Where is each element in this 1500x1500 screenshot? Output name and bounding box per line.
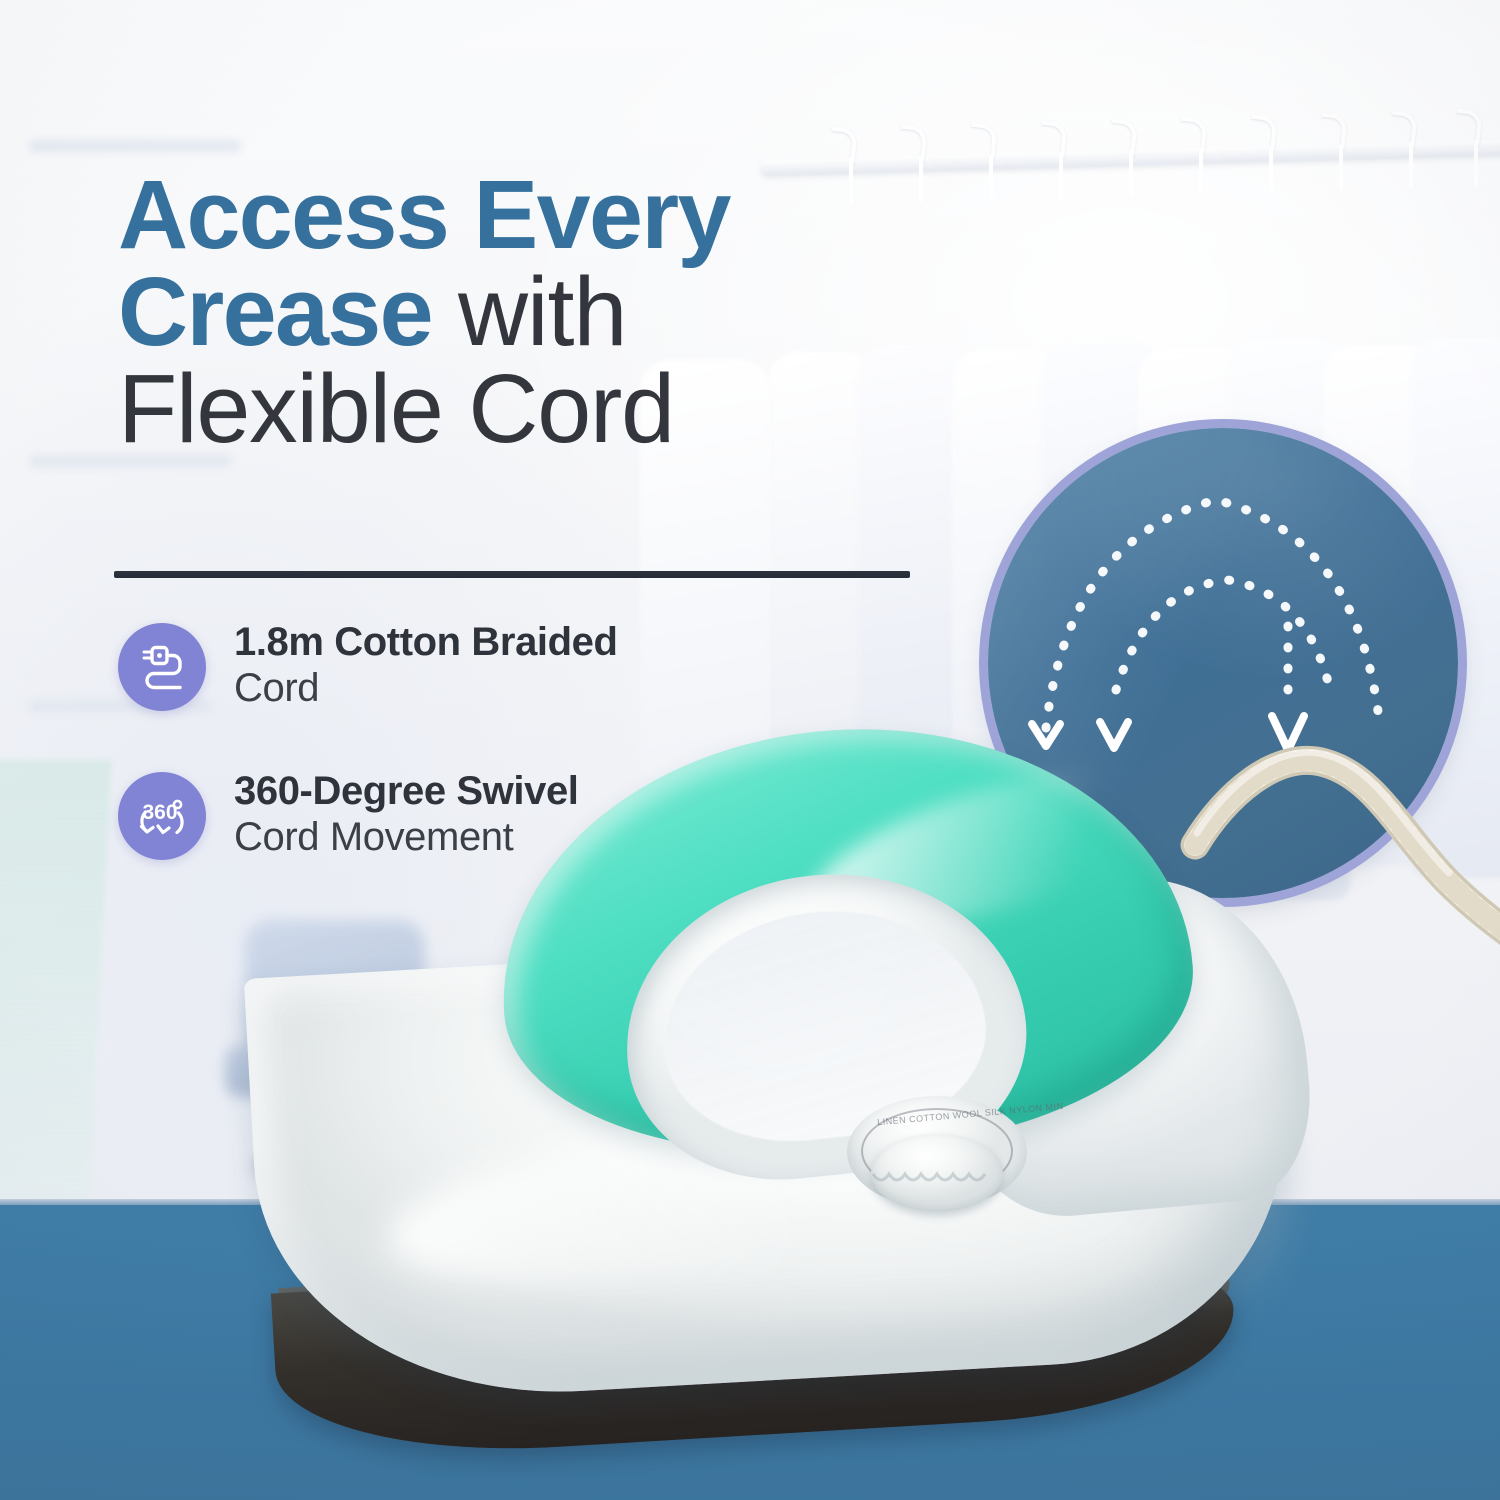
temperature-dial[interactable]: LINEN COTTON WOOL SILK NYLON MIN bbox=[847, 1096, 1027, 1208]
feature-text-cord-length: 1.8m Cotton Braided Cord bbox=[234, 620, 618, 713]
feature-subtitle-1: Cord bbox=[234, 666, 618, 712]
hanger bbox=[1110, 120, 1120, 194]
background-shelf-3 bbox=[30, 140, 240, 152]
hanger bbox=[1320, 114, 1330, 188]
headline-divider bbox=[114, 571, 910, 578]
feature-title-2: 360-Degree Swivel bbox=[234, 769, 579, 815]
headline-line-2: Crease with bbox=[118, 265, 998, 358]
hanger bbox=[1390, 112, 1400, 186]
feature-item-cord-length: 1.8m Cotton Braided Cord bbox=[118, 620, 838, 713]
feature-item-swivel: 360 360-Degree Swivel Cord Movement bbox=[118, 769, 838, 862]
feature-subtitle-2: Cord Movement bbox=[234, 815, 579, 861]
svg-text:360: 360 bbox=[142, 801, 177, 824]
headline-line-3: Flexible Cord bbox=[118, 362, 998, 455]
hanger bbox=[1250, 116, 1260, 190]
hanger bbox=[1180, 118, 1190, 192]
headline-with-word: with bbox=[432, 257, 626, 366]
headline-accent-word: Crease bbox=[118, 257, 432, 366]
headline-block: Access Every Crease with Flexible Cord bbox=[118, 168, 998, 455]
hanger bbox=[1040, 122, 1050, 196]
power-plug-cord-icon bbox=[118, 623, 206, 711]
hanger bbox=[1455, 110, 1465, 184]
headline-line-1: Access Every bbox=[118, 168, 998, 261]
feature-title-1: 1.8m Cotton Braided bbox=[234, 620, 618, 666]
product-feature-banner: LINEN COTTON WOOL SILK NYLON MIN Access … bbox=[0, 0, 1500, 1500]
feature-list: 1.8m Cotton Braided Cord 360 360-Degree bbox=[118, 620, 838, 918]
feature-text-swivel: 360-Degree Swivel Cord Movement bbox=[234, 769, 579, 862]
dial-grip-teeth bbox=[871, 1148, 1003, 1210]
360-degree-rotation-icon: 360 bbox=[118, 772, 206, 860]
